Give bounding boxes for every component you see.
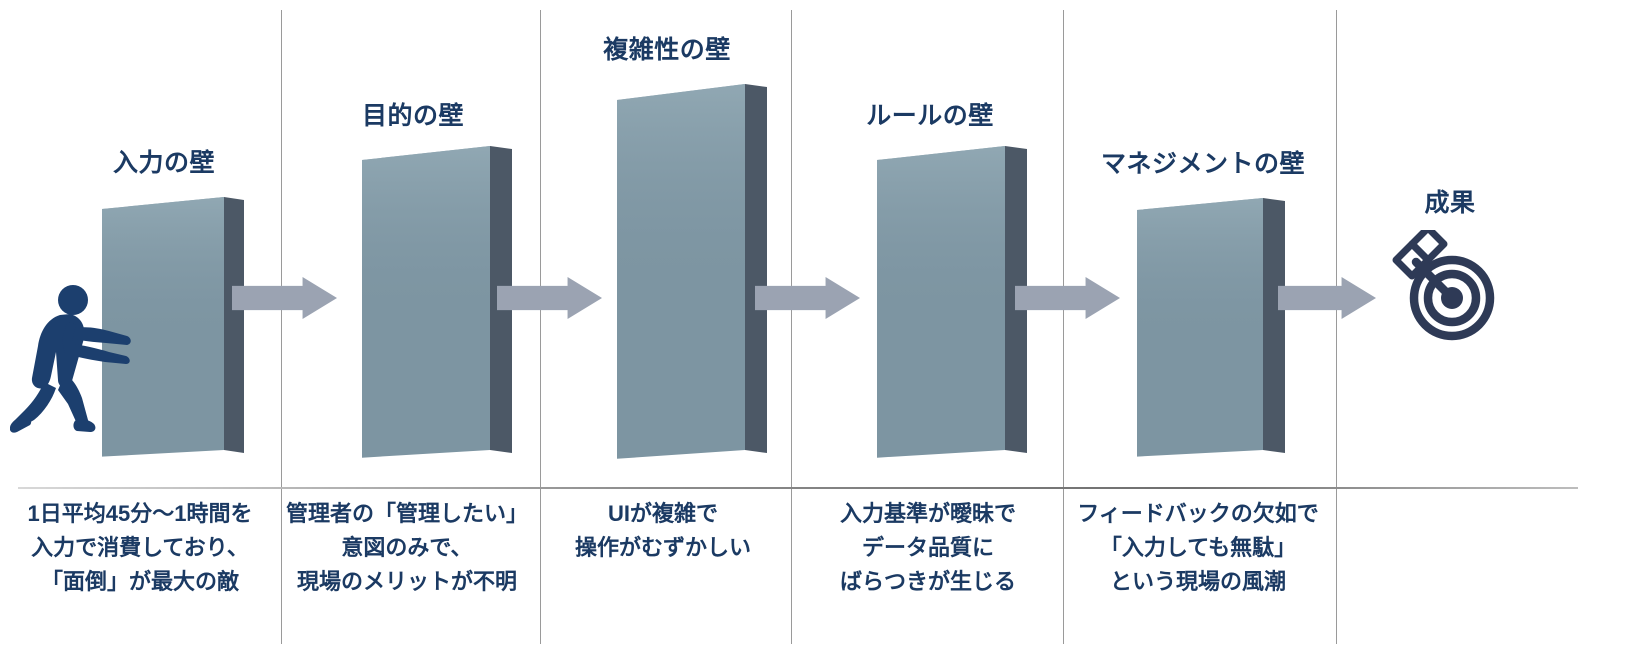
caption-2-line-2: 意図のみで、 [286, 531, 528, 565]
caption-4: 入力基準が曖昧でデータ品質にばらつきが生じる [840, 497, 1016, 599]
wall-2 [360, 146, 514, 470]
baseline-rule [18, 487, 1578, 489]
wall-title-5: マネジメントの壁 [1101, 144, 1305, 180]
caption-4-line-2: データ品質に [840, 531, 1016, 565]
section-divider-5 [1336, 10, 1337, 644]
flow-arrow-3 [755, 277, 860, 319]
section-divider-2 [540, 10, 541, 644]
wall-side-face [1263, 198, 1285, 453]
wall-title-1: 入力の壁 [113, 143, 215, 179]
caption-2-line-3: 現場のメリットが不明 [286, 565, 528, 599]
person-pushing-wall-icon [10, 282, 132, 434]
caption-3-line-1: UIが複雑で [575, 497, 751, 531]
diagram-canvas: 入力の壁目的の壁複雑性の壁ルールの壁マネジメントの壁成果 1日平均45分〜1時間… [0, 0, 1627, 654]
target-dart-icon [1390, 230, 1502, 342]
section-divider-1 [281, 10, 282, 644]
wall-title-3: 複雑性の壁 [603, 30, 731, 66]
caption-3-line-2: 操作がむずかしい [575, 531, 751, 565]
caption-1-line-2: 入力で消費しており、 [28, 531, 253, 565]
caption-5: フィードバックの欠如で「入力しても無駄」という現場の風潮 [1077, 497, 1319, 599]
wall-side-face [745, 84, 767, 453]
wall-front-sheen [617, 84, 745, 459]
wall-side-face [224, 197, 244, 453]
caption-1-line-1: 1日平均45分〜1時間を [28, 497, 253, 531]
flow-arrow-2 [497, 277, 602, 319]
caption-5-line-1: フィードバックの欠如で [1077, 497, 1319, 531]
caption-3: UIが複雑で操作がむずかしい [575, 497, 751, 565]
wall-3 [615, 84, 769, 472]
wall-front-sheen [877, 146, 1005, 458]
caption-5-line-3: という現場の風潮 [1077, 565, 1319, 599]
wall-title-2: 目的の壁 [362, 96, 464, 132]
wall-5 [1135, 198, 1287, 468]
caption-4-line-3: ばらつきが生じる [840, 565, 1016, 599]
wall-title-4: ルールの壁 [866, 96, 994, 132]
caption-1-line-3: 「面倒」が最大の敵 [28, 565, 253, 599]
wall-front-sheen [362, 146, 490, 458]
wall-front-sheen [1137, 198, 1263, 457]
flow-arrow-5 [1278, 277, 1376, 319]
wall-4 [875, 146, 1029, 470]
flow-arrow-1 [232, 277, 337, 319]
flow-arrow-4 [1015, 277, 1120, 319]
goal-title: 成果 [1424, 183, 1475, 219]
caption-5-line-2: 「入力しても無駄」 [1077, 531, 1319, 565]
caption-2-line-1: 管理者の「管理したい」 [286, 497, 528, 531]
section-divider-3 [791, 10, 792, 644]
caption-1: 1日平均45分〜1時間を入力で消費しており、「面倒」が最大の敵 [28, 497, 253, 599]
caption-2: 管理者の「管理したい」意図のみで、現場のメリットが不明 [286, 497, 528, 599]
caption-4-line-1: 入力基準が曖昧で [840, 497, 1016, 531]
section-divider-4 [1063, 10, 1064, 644]
